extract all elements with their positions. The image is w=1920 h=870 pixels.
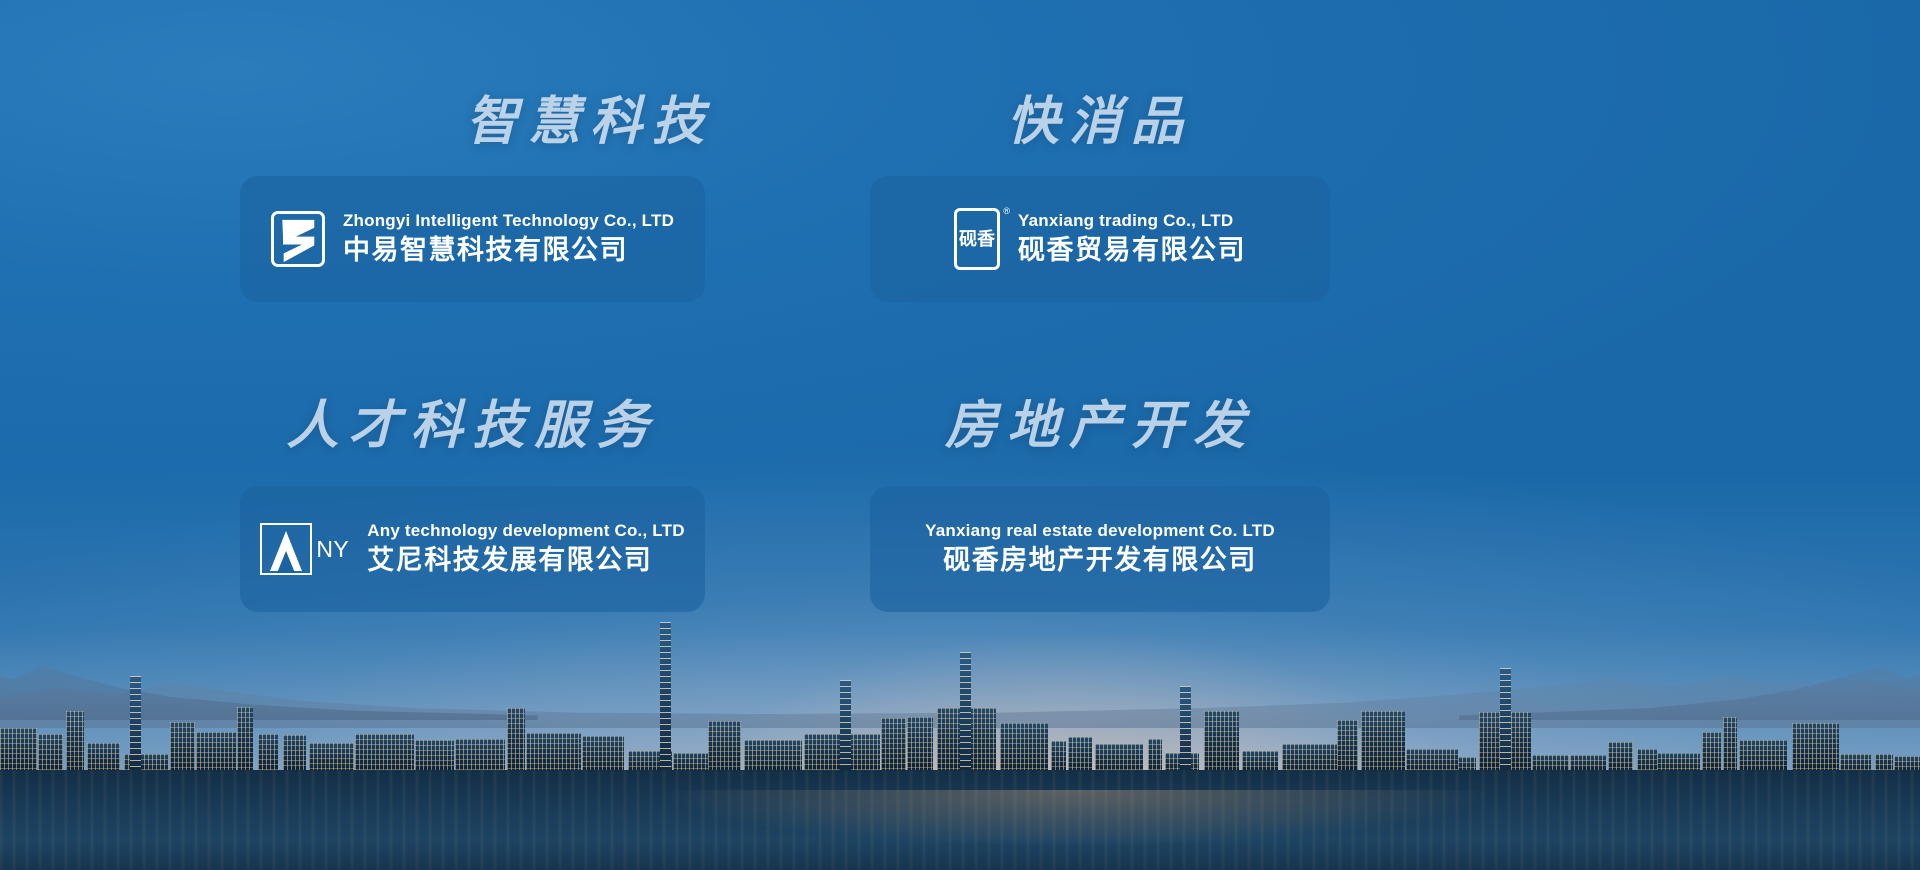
category-title-talent-service: 人才科技服务: [240, 400, 705, 452]
any-triangle-logo-icon: NY: [260, 523, 349, 575]
category-title-smart-technology: 智慧科技: [240, 96, 940, 148]
company-card-yanxiang-trading[interactable]: 砚香 ® Yanxiang trading Co., LTD 砚香贸易有限公司: [870, 176, 1330, 302]
company-name-cn-any-technology: 艾尼科技发展有限公司: [367, 543, 684, 578]
company-name-en-zhongyi: Zhongyi Intelligent Technology Co., LTD: [343, 210, 674, 233]
company-card-zhongyi[interactable]: Zhongyi Intelligent Technology Co., LTD …: [240, 176, 705, 302]
category-title-real-estate: 房地产开发: [870, 400, 1330, 452]
company-name-cn-zhongyi: 中易智慧科技有限公司: [343, 233, 674, 268]
company-card-yanxiang-real-estate[interactable]: Yanxiang real estate development Co. LTD…: [870, 486, 1330, 612]
company-name-cn-yanxiang-real-estate: 砚香房地产开发有限公司: [943, 543, 1257, 578]
company-card-any-technology[interactable]: NY Any technology development Co., LTD 艾…: [240, 486, 705, 612]
company-name-en-any-technology: Any technology development Co., LTD: [367, 520, 684, 543]
section-talent-service: 人才科技服务 NY Any technology development Co.…: [240, 400, 940, 452]
zhongyi-z-bolt-logo-icon: [271, 211, 325, 267]
section-smart-technology: 智慧科技 Zhongyi Intelligent Technology Co.,…: [240, 96, 940, 148]
company-name-en-yanxiang-real-estate: Yanxiang real estate development Co. LTD: [925, 520, 1275, 543]
yanxiang-seal-text: 砚香: [959, 230, 995, 249]
yanxiang-seal-logo-icon: 砚香 ®: [954, 208, 1000, 270]
section-fmcg: 快消品 砚香 ® Yanxiang trading Co., LTD 砚香贸易有…: [870, 96, 1570, 148]
any-wordmark: NY: [316, 536, 349, 563]
company-name-cn-yanxiang-trading: 砚香贸易有限公司: [1018, 233, 1246, 268]
any-triangle-mark-icon: [260, 523, 312, 575]
registered-mark-icon: ®: [1003, 207, 1010, 216]
company-name-en-yanxiang-trading: Yanxiang trading Co., LTD: [1018, 210, 1246, 233]
category-title-fmcg: 快消品: [870, 96, 1330, 148]
section-real-estate: 房地产开发 Yanxiang real estate development C…: [870, 400, 1570, 452]
